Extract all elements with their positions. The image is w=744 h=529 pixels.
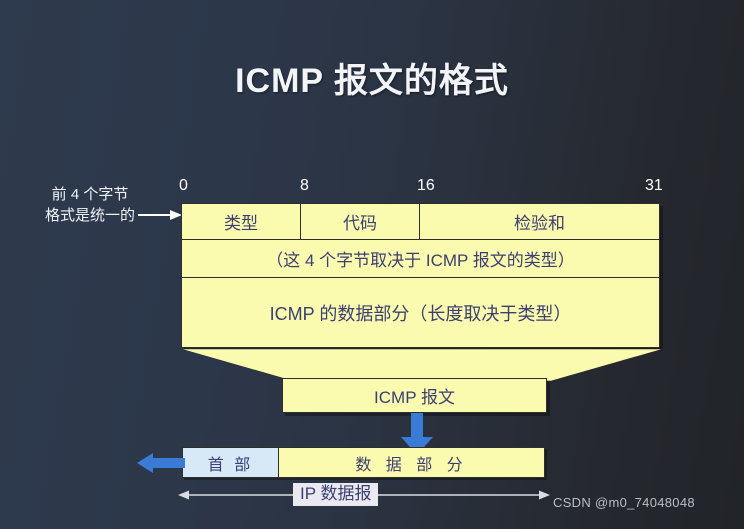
bit-tick-0: 0: [179, 177, 188, 195]
icmp-format-table: 类型 代码 检验和 （这 4 个字节取决于 ICMP 报文的类型） ICMP 的…: [181, 203, 660, 348]
ip-datagram-span-label: IP 数据报: [293, 483, 378, 506]
icmp-message-box: ICMP 报文: [282, 378, 547, 413]
ip-data-cell: 数 据 部 分: [279, 448, 544, 477]
field-checksum: 检验和: [420, 204, 659, 239]
slide-canvas: ICMP 报文的格式 前 4 个字节 格式是统一的 0 8 16 31 类型 代…: [0, 0, 744, 529]
left-arrow-icon: [137, 452, 185, 474]
bit-tick-8: 8: [300, 177, 309, 195]
field-code: 代码: [301, 204, 420, 239]
left-annotation-line1: 前 4 个字节: [14, 184, 166, 205]
page-title: ICMP 报文的格式: [0, 53, 744, 102]
bit-tick-16: 16: [417, 177, 435, 195]
icmp-header-row: 类型 代码 检验和: [182, 204, 659, 240]
annotation-arrow-icon: [138, 209, 182, 221]
field-type: 类型: [182, 204, 301, 239]
watermark: CSDN @m0_74048048: [553, 495, 695, 510]
bit-tick-31: 31: [645, 177, 663, 195]
ip-datagram-bar: 首 部 数 据 部 分: [182, 447, 545, 478]
funnel-shape: [181, 349, 663, 381]
icmp-data-row: ICMP 的数据部分（长度取决于类型）: [182, 278, 659, 347]
icmp-variable-row: （这 4 个字节取决于 ICMP 报文的类型）: [182, 240, 659, 278]
ip-header-cell: 首 部: [183, 448, 279, 477]
